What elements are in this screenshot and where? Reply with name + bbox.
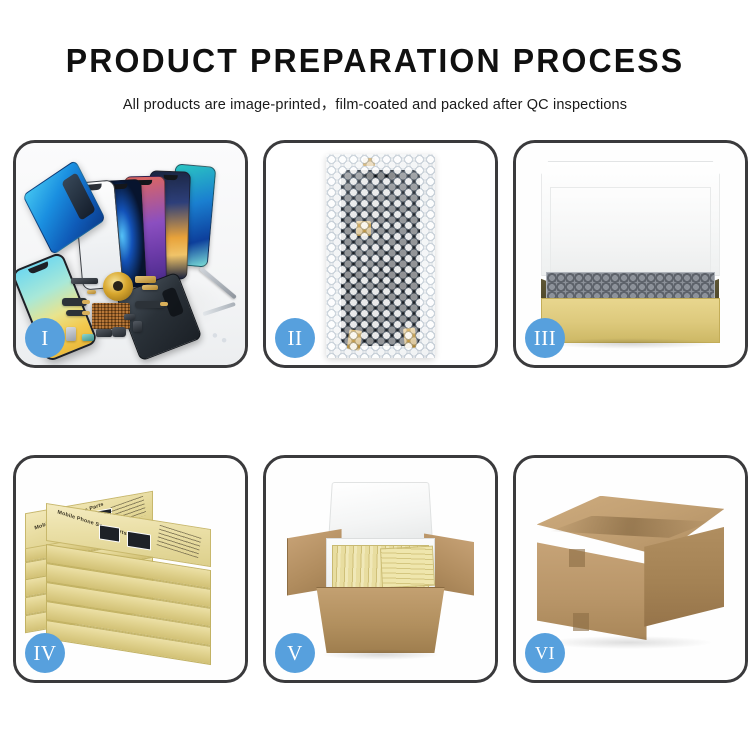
small-component-part	[82, 334, 93, 341]
step-badge-2: II	[275, 318, 315, 358]
header: PRODUCT PREPARATION PROCESS All products…	[0, 0, 750, 114]
bubble-texture-overlay	[326, 154, 436, 358]
spec-text-lines	[156, 524, 201, 557]
page-title: PRODUCT PREPARATION PROCESS	[11, 0, 739, 77]
camera-module-part	[112, 327, 126, 336]
foam-box-lid	[328, 482, 433, 542]
process-step-1: I	[13, 140, 248, 368]
screws	[208, 329, 231, 345]
process-step-5: V	[263, 455, 498, 683]
small-component-part	[124, 314, 135, 320]
small-component-part	[87, 290, 96, 295]
product-window	[127, 531, 151, 551]
product-window	[99, 524, 120, 543]
process-step-3: III	[513, 140, 748, 368]
process-step-4: Mobile Phone Spare Parts Mobile Phone Sp…	[13, 455, 248, 683]
step-badge-1: I	[25, 318, 65, 358]
yellow-box-front-panel	[541, 298, 720, 342]
small-component-part	[133, 321, 142, 332]
phone-screen-fan	[98, 170, 235, 288]
step-badge-6: VI	[525, 633, 565, 673]
flex-cable-part	[66, 310, 87, 317]
right-box-stack: Mobile Phone Spare Parts	[46, 516, 211, 663]
step-badge-3: III	[525, 318, 565, 358]
step-badge-5: V	[275, 633, 315, 673]
bubble-wrap-pouch	[326, 154, 436, 358]
carton-body	[316, 587, 444, 654]
drop-shadow	[546, 636, 711, 649]
process-step-6: VI	[513, 455, 748, 683]
process-step-grid: I II	[13, 140, 737, 683]
white-foam-lining	[550, 187, 710, 285]
earpiece-speaker-part	[71, 278, 98, 284]
flex-cable-part	[135, 301, 165, 308]
product-preparation-infographic: PRODUCT PREPARATION PROCESS All products…	[0, 0, 750, 750]
camera-module-part	[96, 329, 112, 337]
process-step-2: II	[263, 140, 498, 368]
yellow-boxes-row	[379, 545, 434, 588]
drop-shadow	[321, 649, 440, 660]
gold-connector-part	[135, 276, 156, 283]
gold-connector-part	[142, 285, 158, 290]
tape-patch	[569, 549, 585, 567]
sim-tray-part	[66, 327, 75, 340]
flex-cable-part	[62, 298, 87, 306]
vibration-motor-part	[103, 272, 133, 301]
page-subtitle: All products are image-printed，film-coat…	[0, 77, 750, 114]
step-badge-4: IV	[25, 633, 65, 673]
tape-patch	[573, 613, 589, 631]
drop-shadow	[546, 338, 715, 349]
